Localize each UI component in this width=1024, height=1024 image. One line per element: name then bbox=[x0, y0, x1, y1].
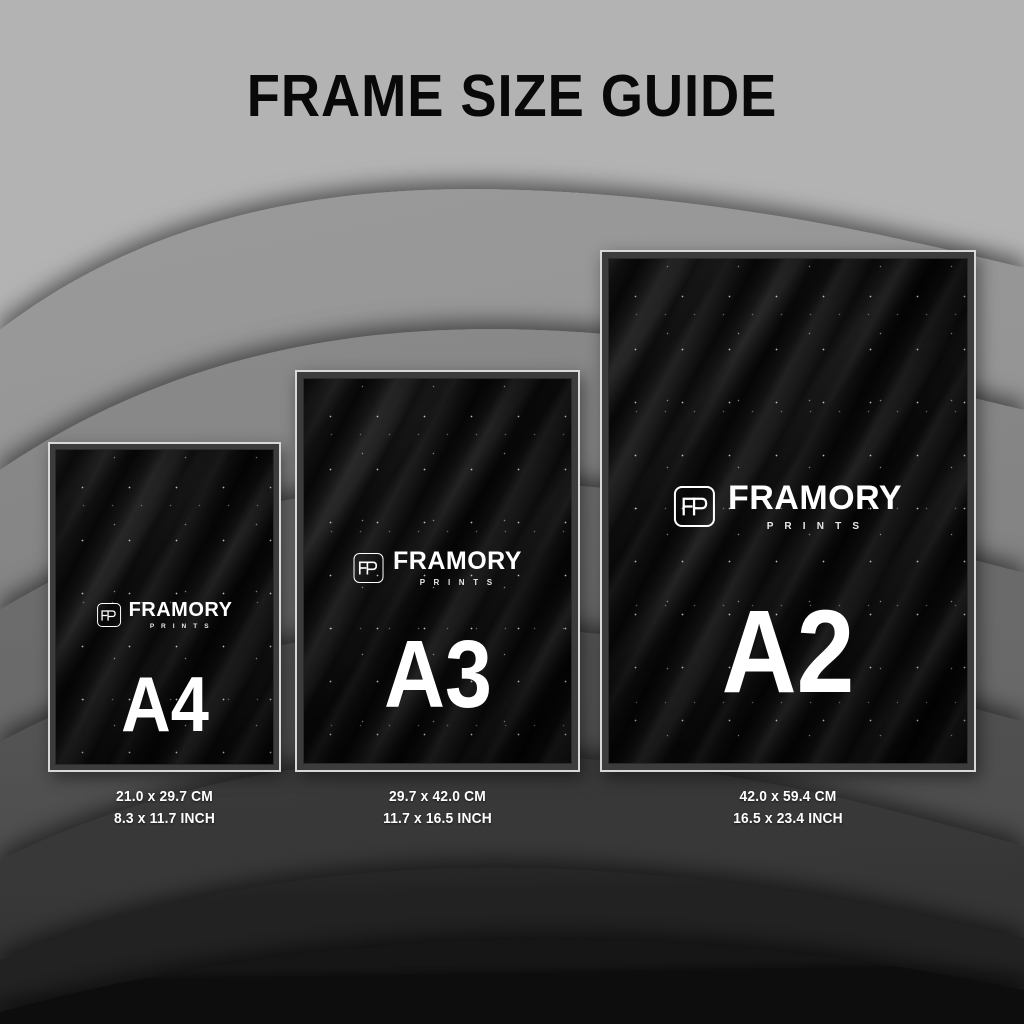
frame-a3[interactable]: FRAMORY P R I N T S A3 bbox=[295, 370, 580, 772]
frame-a3-size-label: A3 bbox=[384, 627, 492, 723]
framory-logo-a4: FRAMORY P R I N T S bbox=[97, 600, 233, 631]
caption-a4-cm: 21.0 x 29.7 CM bbox=[57, 786, 271, 808]
framory-wordmark: FRAMORY bbox=[393, 549, 522, 574]
prints-subword: P R I N T S bbox=[129, 624, 233, 631]
caption-a2-cm: 42.0 x 59.4 CM bbox=[615, 786, 961, 808]
frame-a3-artwork: FRAMORY P R I N T S A3 bbox=[303, 378, 572, 764]
caption-a3: 29.7 x 42.0 CM 11.7 x 16.5 INCH bbox=[306, 786, 568, 830]
framory-wordmark-block-a4: FRAMORY P R I N T S bbox=[129, 600, 233, 631]
page-title: FRAME SIZE GUIDE bbox=[41, 62, 983, 130]
prints-subword: P R I N T S bbox=[728, 522, 902, 532]
fp-monogram-icon bbox=[97, 603, 121, 627]
frame-size-guide-poster: FRAME SIZE GUIDE FRAMORY P R I N T S bbox=[0, 0, 1024, 1024]
fp-monogram-icon bbox=[353, 553, 383, 583]
fp-monogram-icon bbox=[674, 486, 715, 527]
frame-a2-artwork: FRAMORY P R I N T S A2 bbox=[608, 258, 968, 764]
caption-a3-cm: 29.7 x 42.0 CM bbox=[306, 786, 568, 808]
frame-a4[interactable]: FRAMORY P R I N T S A4 bbox=[48, 442, 281, 772]
frame-a2-size-label: A2 bbox=[722, 593, 855, 711]
caption-a2: 42.0 x 59.4 CM 16.5 x 23.4 INCH bbox=[615, 786, 961, 830]
prints-subword: P R I N T S bbox=[393, 579, 522, 587]
caption-a4-inch: 8.3 x 11.7 INCH bbox=[57, 808, 271, 830]
framory-wordmark: FRAMORY bbox=[728, 481, 902, 515]
frame-a4-artwork: FRAMORY P R I N T S A4 bbox=[55, 449, 274, 765]
framory-wordmark-block-a2: FRAMORY P R I N T S bbox=[728, 481, 902, 532]
caption-a2-inch: 16.5 x 23.4 INCH bbox=[615, 808, 961, 830]
framory-logo-a3: FRAMORY P R I N T S bbox=[353, 549, 522, 587]
framory-wordmark: FRAMORY bbox=[129, 600, 233, 620]
frame-a2[interactable]: FRAMORY P R I N T S A2 bbox=[600, 250, 976, 772]
frame-a4-size-label: A4 bbox=[121, 665, 209, 743]
caption-a3-inch: 11.7 x 16.5 INCH bbox=[306, 808, 568, 830]
framory-logo-a2: FRAMORY P R I N T S bbox=[674, 481, 902, 532]
caption-a4: 21.0 x 29.7 CM 8.3 x 11.7 INCH bbox=[57, 786, 271, 830]
framory-wordmark-block-a3: FRAMORY P R I N T S bbox=[393, 549, 522, 587]
